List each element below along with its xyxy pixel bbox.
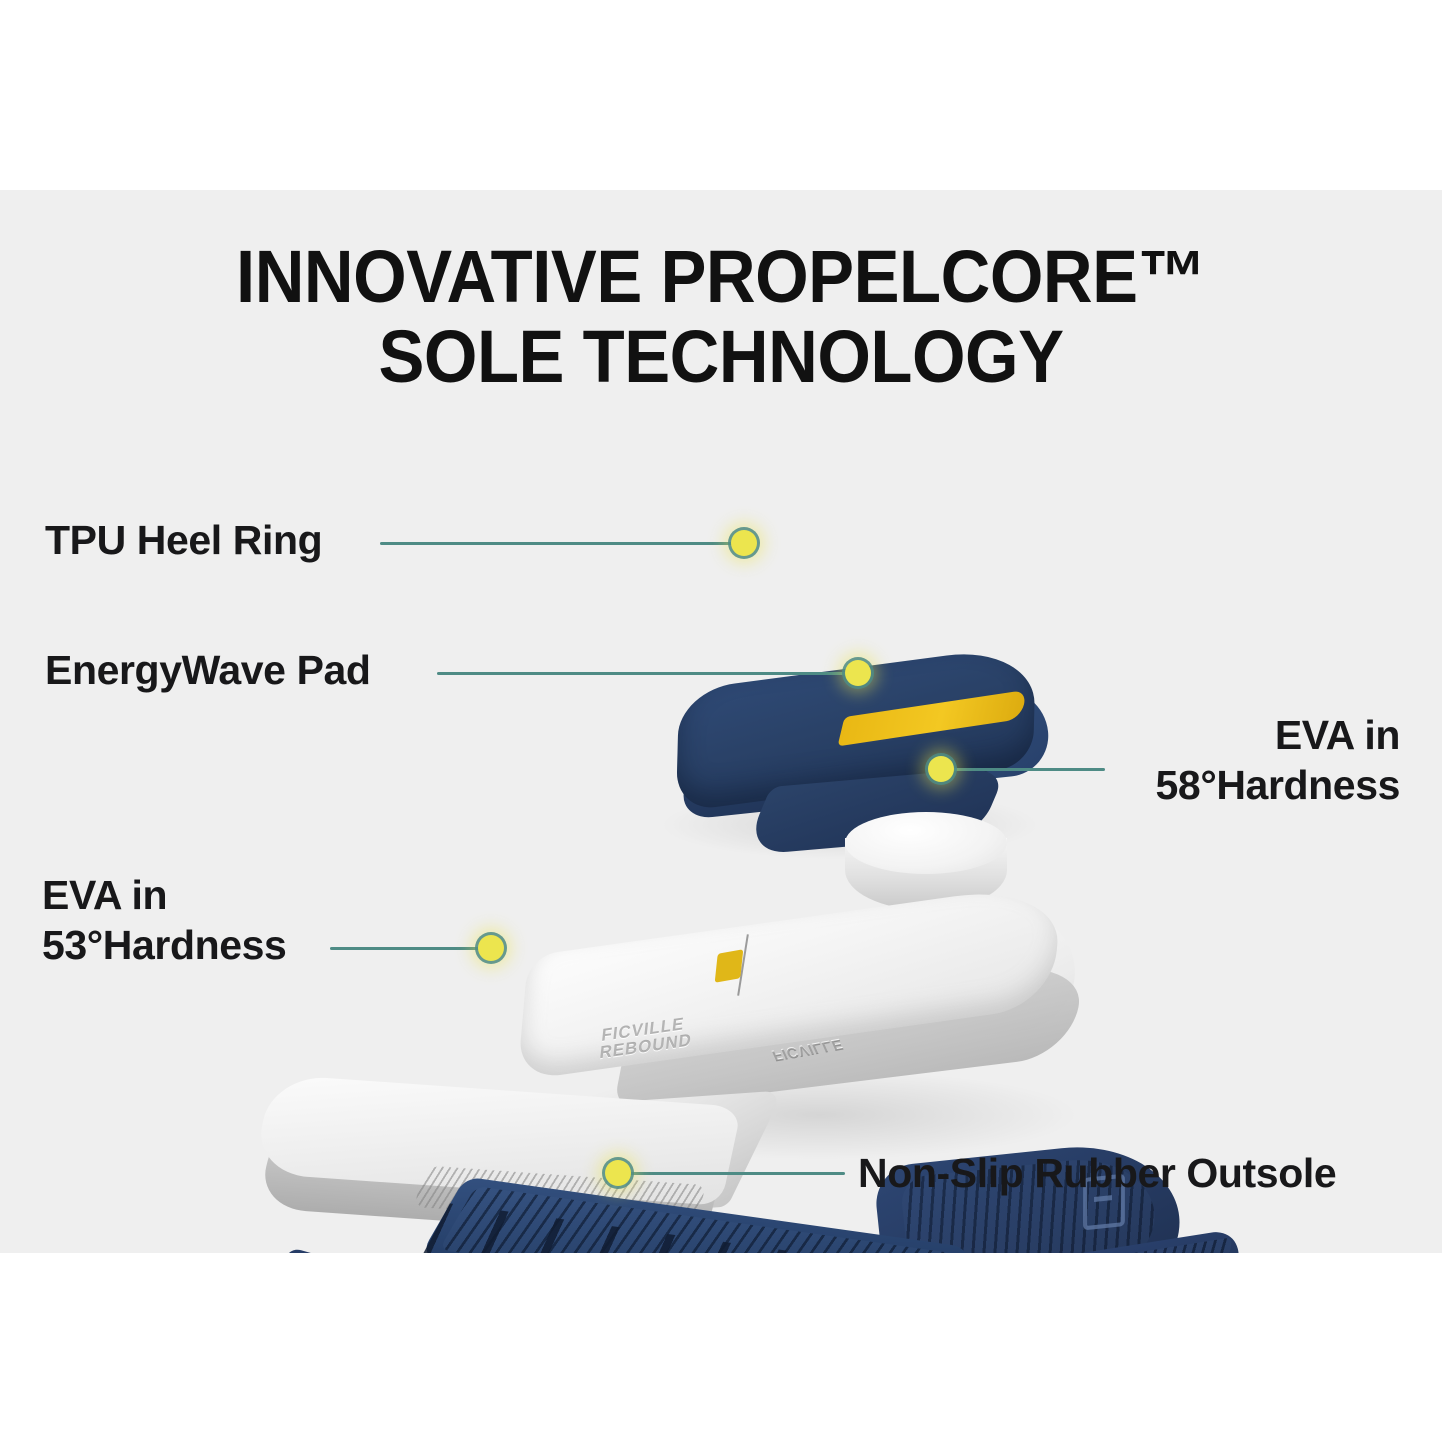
callout-label-eva-53: EVA in 53°Hardness [42,870,372,970]
leader-line-eva-58 [950,768,1105,771]
leader-line-energywave-pad [437,672,855,675]
screenshot-root: INNOVATIVE PROPELCORE™ SOLE TECHNOLOGY F… [0,0,1442,1442]
eva58-yellow-accent [715,949,744,982]
leader-line-eva-53 [330,947,490,950]
page-title: INNOVATIVE PROPELCORE™ SOLE TECHNOLOGY [50,237,1391,397]
leader-line-tpu-heel-ring [380,542,740,545]
product-media-panel[interactable]: INNOVATIVE PROPELCORE™ SOLE TECHNOLOGY F… [0,190,1442,1253]
callout-label-eva-58: EVA in 58°Hardness [980,710,1400,810]
callout-label-tpu-heel-ring: TPU Heel Ring [45,515,365,565]
energywave-pad-top [845,812,1007,874]
callout-label-energywave-pad: EnergyWave Pad [45,645,425,695]
marker-dot-tpu-heel-ring[interactable] [731,530,757,556]
callout-label-outsole: Non-Slip Rubber Outsole [858,1148,1408,1198]
marker-dot-outsole[interactable] [605,1160,631,1186]
marker-dot-eva-53[interactable] [478,935,504,961]
leader-line-outsole [630,1172,845,1175]
marker-dot-energywave-pad[interactable] [845,660,871,686]
marker-dot-eva-58[interactable] [928,756,954,782]
